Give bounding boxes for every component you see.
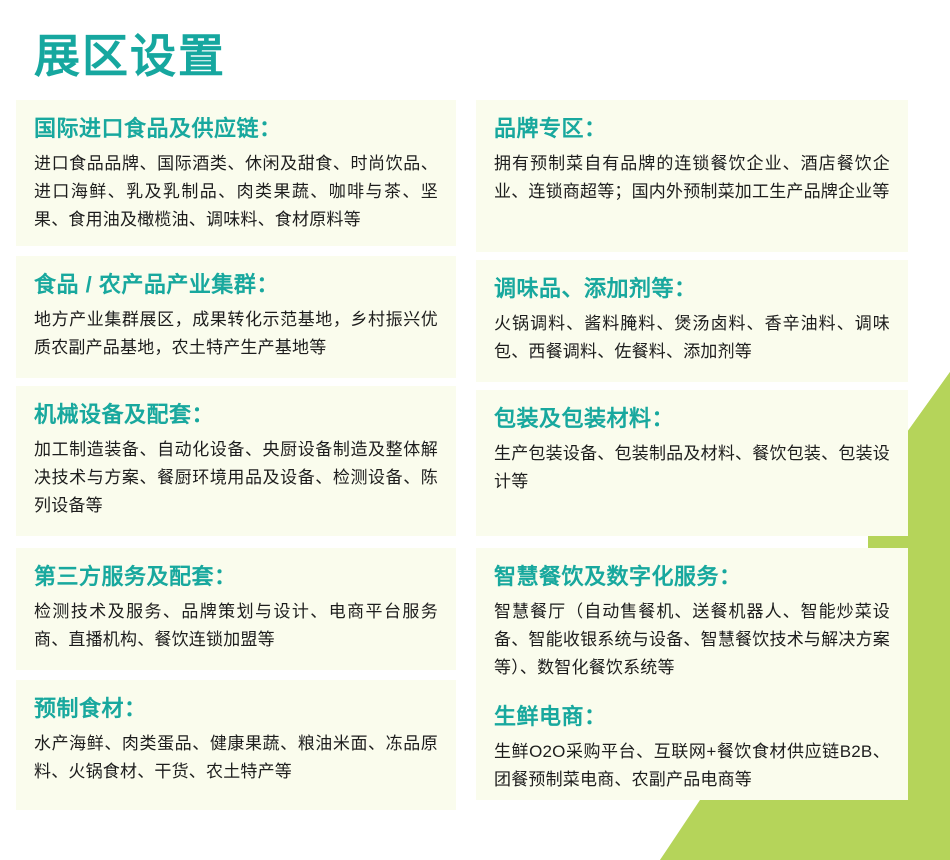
zone-card-third-party-services[interactable]: 第三方服务及配套： 检测技术及服务、品牌策划与设计、电商平台服务商、直播机构、餐…	[16, 548, 456, 670]
zone-card-title: 智慧餐饮及数字化服务：	[494, 562, 890, 592]
zone-card-prepared-ingredients[interactable]: 预制食材： 水产海鲜、肉类蛋品、健康果蔬、粮油米面、冻品原料、火锅食材、干货、农…	[16, 680, 456, 810]
zone-card-body: 智慧餐厅（自动售餐机、送餐机器人、智能炒菜设备、智能收银系统与设备、智慧餐饮技术…	[494, 598, 890, 682]
page-title: 展区设置	[34, 28, 226, 84]
zone-card-food-agri-cluster[interactable]: 食品 / 农产品产业集群： 地方产业集群展区，成果转化示范基地，乡村振兴优质农副…	[16, 256, 456, 378]
zone-card-body: 生鲜O2O采购平台、互联网+餐饮食材供应链B2B、团餐预制菜电商、农副产品电商等	[494, 738, 890, 794]
zone-card-title: 品牌专区：	[494, 114, 890, 144]
zone-card-title: 食品 / 农产品产业集群：	[34, 270, 438, 300]
zone-card-brand-zone[interactable]: 品牌专区： 拥有预制菜自有品牌的连锁餐饮企业、酒店餐饮企业、连锁商超等；国内外预…	[476, 100, 908, 252]
zone-card-title: 包装及包装材料：	[494, 404, 890, 434]
zone-card-title: 预制食材：	[34, 694, 438, 724]
zone-card-title: 生鲜电商：	[494, 702, 890, 732]
zone-columns: 国际进口食品及供应链： 进口食品品牌、国际酒类、休闲及甜食、时尚饮品、进口海鲜、…	[0, 0, 950, 860]
zone-card-body: 拥有预制菜自有品牌的连锁餐饮企业、酒店餐饮企业、连锁商超等；国内外预制菜加工生产…	[494, 150, 890, 206]
zone-card-fresh-ecommerce[interactable]: 生鲜电商： 生鲜O2O采购平台、互联网+餐饮食材供应链B2B、团餐预制菜电商、农…	[476, 688, 908, 800]
zone-card-title: 第三方服务及配套：	[34, 562, 438, 592]
zone-card-machinery-equipment[interactable]: 机械设备及配套： 加工制造装备、自动化设备、央厨设备制造及整体解决技术与方案、餐…	[16, 386, 456, 536]
zone-card-international-import[interactable]: 国际进口食品及供应链： 进口食品品牌、国际酒类、休闲及甜食、时尚饮品、进口海鲜、…	[16, 100, 456, 246]
zone-card-packaging-materials[interactable]: 包装及包装材料： 生产包装设备、包装制品及材料、餐饮包装、包装设计等	[476, 390, 908, 536]
zone-card-body: 火锅调料、酱料腌料、煲汤卤料、香辛油料、调味包、西餐调料、佐餐料、添加剂等	[494, 310, 890, 366]
zone-card-smart-catering-digital[interactable]: 智慧餐饮及数字化服务： 智慧餐厅（自动售餐机、送餐机器人、智能炒菜设备、智能收银…	[476, 548, 908, 698]
zone-card-body: 生产包装设备、包装制品及材料、餐饮包装、包装设计等	[494, 440, 890, 496]
zone-card-body: 检测技术及服务、品牌策划与设计、电商平台服务商、直播机构、餐饮连锁加盟等	[34, 598, 438, 654]
zone-card-body: 水产海鲜、肉类蛋品、健康果蔬、粮油米面、冻品原料、火锅食材、干货、农土特产等	[34, 730, 438, 786]
zone-card-body: 进口食品品牌、国际酒类、休闲及甜食、时尚饮品、进口海鲜、乳及乳制品、肉类果蔬、咖…	[34, 150, 438, 234]
zone-card-seasoning-additives[interactable]: 调味品、添加剂等： 火锅调料、酱料腌料、煲汤卤料、香辛油料、调味包、西餐调料、佐…	[476, 260, 908, 382]
exhibition-zones-poster: 展区设置 国际进口食品及供应链： 进口食品品牌、国际酒类、休闲及甜食、时尚饮品、…	[0, 0, 950, 860]
zone-card-body: 地方产业集群展区，成果转化示范基地，乡村振兴优质农副产品基地，农土特产生产基地等	[34, 306, 438, 362]
zone-card-body: 加工制造装备、自动化设备、央厨设备制造及整体解决技术与方案、餐厨环境用品及设备、…	[34, 436, 438, 520]
zone-card-title: 调味品、添加剂等：	[494, 274, 890, 304]
zone-card-title: 机械设备及配套：	[34, 400, 438, 430]
zone-card-title: 国际进口食品及供应链：	[34, 114, 438, 144]
